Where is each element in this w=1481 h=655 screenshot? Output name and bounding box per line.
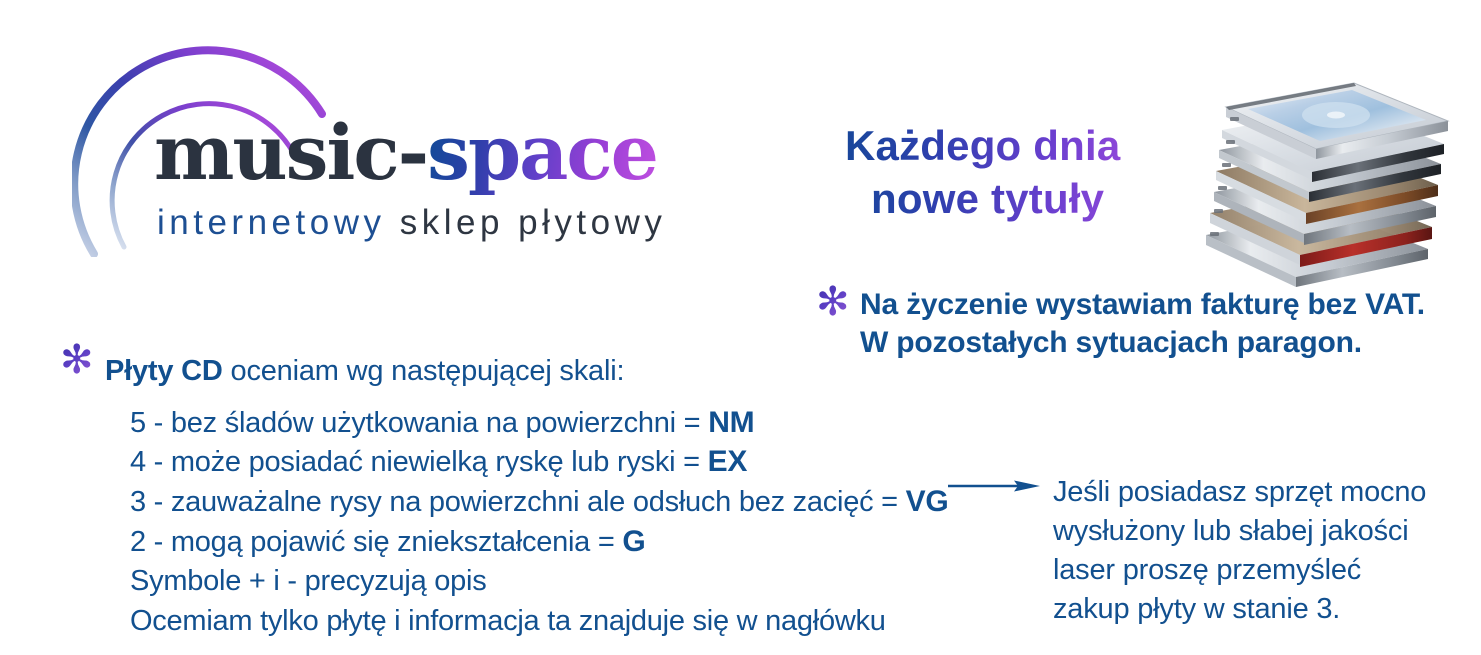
arrow-right-icon	[948, 477, 1040, 495]
grading-scale: ✻ Płyty CD oceniam wg następującej skali…	[60, 340, 960, 640]
grading-scale-heading-bold: Płyty CD	[105, 355, 223, 387]
scale-row-grade: G	[622, 525, 645, 558]
scale-row-text: Symbole + i - precyzują opis	[130, 565, 486, 597]
advice-note: Jeśli posiadasz sprzęt mocno wysłużony l…	[948, 473, 1428, 628]
scale-row-text: 3 - zauważalne rysy na powierzchni ale o…	[130, 486, 906, 518]
list-item: Ocemiam tylko płytę i informacja ta znaj…	[130, 601, 960, 641]
tagline-sklep-plytowy: sklep płytowy	[385, 203, 666, 242]
wordmark-music: music	[154, 108, 398, 197]
scale-row-text: 5 - bez śladów użytkowania na powierzchn…	[130, 407, 708, 439]
wordmark-dash: -	[398, 108, 428, 197]
grading-scale-heading-rest: oceniam wg następującej skali:	[223, 355, 625, 387]
grading-scale-list: 5 - bez śladów użytkowania na powierzchn…	[130, 403, 960, 641]
tagline-internetowy: internetowy	[157, 203, 385, 242]
list-item: 2 - mogą pojawić się zniekształcenia = G	[130, 522, 960, 562]
cd-stack-image	[1192, 55, 1462, 287]
scale-row-grade: NM	[708, 406, 754, 439]
list-item: 5 - bez śladów użytkowania na powierzchn…	[130, 403, 960, 443]
brand-wordmark: music-space	[154, 115, 657, 191]
asterisk-icon: ✻	[60, 340, 94, 380]
wordmark-space: space	[427, 108, 657, 197]
brand-tagline: internetowy sklep płytowy	[157, 205, 666, 240]
list-item: 4 - może posiadać niewielką ryskę lub ry…	[130, 442, 960, 482]
brand-logo[interactable]: music-space internetowy sklep płytowy	[72, 22, 772, 262]
scale-row-grade: EX	[708, 445, 748, 478]
advice-line-4: zakup płyty w stanie 3.	[1053, 590, 1428, 629]
grading-scale-heading: Płyty CD oceniam wg następującej skali:	[105, 340, 960, 388]
slogan: Każdego dnia nowe tytuły	[845, 120, 1175, 225]
advice-line-1: Jeśli posiadasz sprzęt mocno	[1053, 473, 1428, 512]
scale-row-grade: VG	[906, 485, 949, 518]
slogan-line-2: nowe tytuły	[845, 173, 1175, 226]
scale-row-text: 2 - mogą pojawić się zniekształcenia =	[130, 526, 622, 558]
list-item: Symbole + i - precyzują opis	[130, 561, 960, 601]
scale-row-text: 4 - może posiadać niewielką ryskę lub ry…	[130, 446, 708, 478]
vat-note-line-1: Na życzenie wystawiam fakturę bez VAT.	[860, 286, 1416, 324]
advice-line-3: laser proszę przemyśleć	[1053, 551, 1428, 590]
advice-line-2: wysłużony lub słabej jakości	[1053, 512, 1428, 551]
asterisk-icon: ✻	[816, 282, 850, 322]
scale-row-text: Ocemiam tylko płytę i informacja ta znaj…	[130, 605, 886, 637]
slogan-line-1: Każdego dnia	[845, 120, 1175, 173]
list-item: 3 - zauważalne rysy na powierzchni ale o…	[130, 482, 960, 522]
